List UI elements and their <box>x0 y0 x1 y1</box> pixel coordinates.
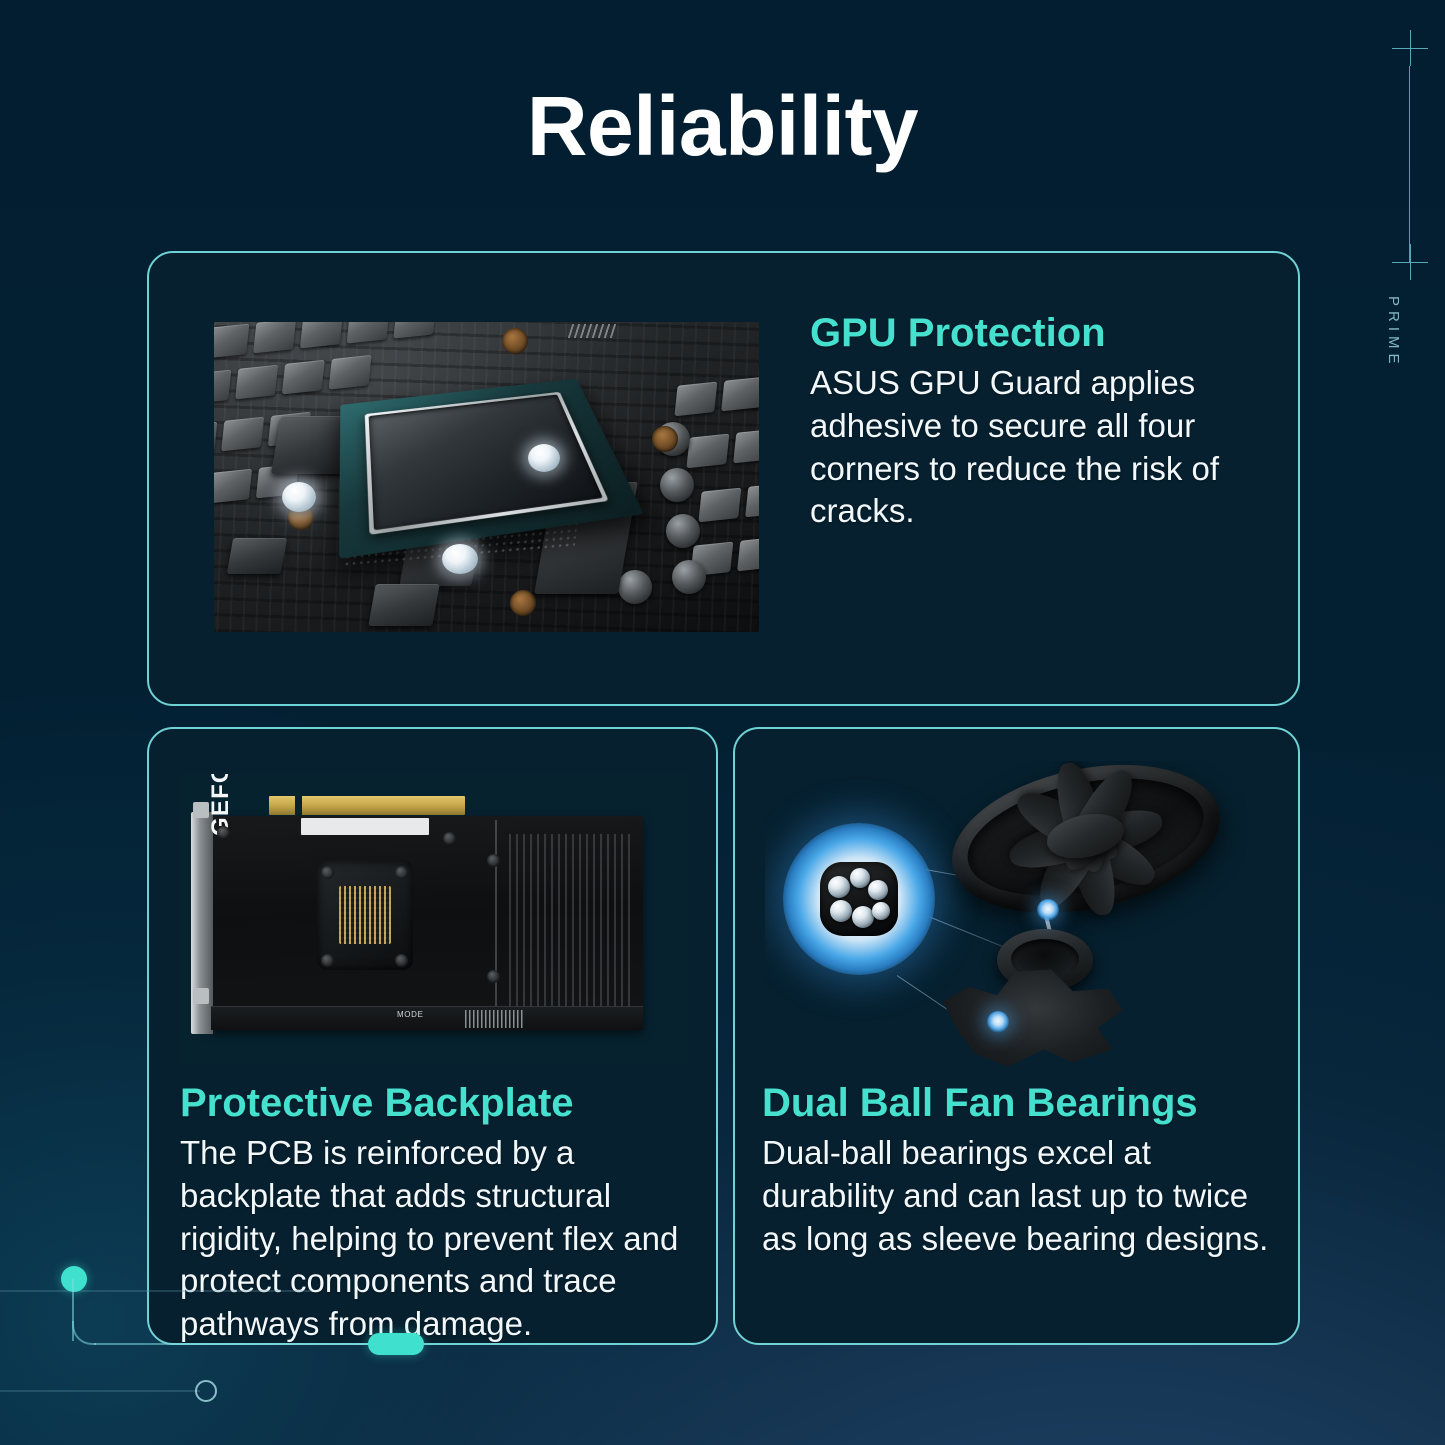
chip <box>214 370 231 405</box>
screw <box>443 832 456 845</box>
bearing-ball <box>872 902 890 920</box>
glowing-screw-icon <box>1037 899 1059 921</box>
chip <box>214 324 249 359</box>
gpu-protection-text: GPU Protection ASUS GPU Guard applies ad… <box>810 311 1230 533</box>
feature-card-dual-ball-fan-bearings: Dual Ball Fan Bearings Dual-ball bearing… <box>733 727 1300 1345</box>
feature-body: ASUS GPU Guard applies adhesive to secur… <box>810 362 1230 534</box>
bracket-tab <box>193 988 209 1004</box>
solder-pad <box>652 426 678 452</box>
feature-body: Dual-ball bearings excel at durability a… <box>762 1132 1282 1261</box>
gpu-die-photo <box>214 322 759 632</box>
chip <box>253 322 296 353</box>
glowing-screw-icon <box>987 1011 1009 1033</box>
mode-switch-label: MODE <box>397 1010 423 1019</box>
magnifier-glow <box>783 823 935 975</box>
capacitor <box>666 514 700 548</box>
chip <box>733 429 759 464</box>
adhesive-blob <box>282 482 316 512</box>
screw <box>321 954 334 967</box>
label-sticker <box>301 818 429 835</box>
chip <box>698 488 741 523</box>
chip <box>674 382 717 417</box>
bearing-race <box>820 862 898 936</box>
backplate-photo: GEFORCE RTX™ MODE <box>179 774 689 1064</box>
screw <box>395 954 408 967</box>
fan-bearing-diagram <box>765 761 1270 1071</box>
capacitor <box>618 570 652 604</box>
chip <box>221 417 264 452</box>
feature-card-gpu-protection: GPU Protection ASUS GPU Guard applies ad… <box>147 251 1300 706</box>
plus-icon <box>1392 244 1428 280</box>
header-pins <box>568 324 617 338</box>
bearing-ball <box>852 906 874 928</box>
chip <box>214 422 217 457</box>
adhesive-blob <box>442 544 478 574</box>
chip <box>300 322 343 348</box>
feature-title: GPU Protection <box>810 311 1230 356</box>
vent-grille <box>509 834 631 1010</box>
circuit-trace <box>0 1290 312 1292</box>
brand-strip: PRIME <box>1375 0 1445 430</box>
circuit-decoration <box>0 1245 520 1445</box>
chip <box>235 365 278 400</box>
panel-divider <box>495 820 497 1024</box>
vrm-block <box>227 538 287 574</box>
brand-label: PRIME <box>1385 296 1402 369</box>
product-feature-page: Reliability PRIME <box>0 0 1445 1445</box>
page-title: Reliability <box>0 82 1445 170</box>
vertical-rule <box>1409 66 1410 262</box>
chip <box>745 483 759 518</box>
chip <box>721 377 759 412</box>
bearing-ball <box>830 900 852 922</box>
feature-title: Dual Ball Fan Bearings <box>762 1081 1282 1126</box>
screw <box>217 826 230 839</box>
circuit-elbow <box>72 1321 96 1345</box>
chip <box>737 537 759 572</box>
bearing-ball <box>868 880 888 900</box>
solder-pad <box>510 590 536 616</box>
bearing-ball <box>828 876 850 898</box>
bottom-rail <box>211 1006 643 1030</box>
plus-icon <box>1392 30 1428 66</box>
circuit-trace <box>94 1343 400 1345</box>
circuit-node-pill <box>368 1333 424 1355</box>
capacitor <box>672 560 706 594</box>
die-pad-array <box>339 886 391 944</box>
bearing-ball <box>850 868 870 888</box>
circuit-node-dot <box>61 1266 87 1292</box>
solder-pad <box>502 328 528 354</box>
circuit-node-ring <box>195 1380 217 1402</box>
screw <box>487 854 500 867</box>
screw <box>321 866 334 879</box>
capacitor <box>660 468 694 502</box>
circuit-trace <box>0 1390 200 1392</box>
feature-title: Protective Backplate <box>180 1081 700 1126</box>
pcie-notch <box>295 796 302 815</box>
adhesive-blob <box>528 444 560 472</box>
screw <box>487 970 500 983</box>
chip <box>329 355 372 390</box>
connector-fingers <box>465 1010 523 1028</box>
chip <box>686 434 729 469</box>
chip <box>214 469 252 504</box>
vrm-block <box>368 584 439 626</box>
bearings-text: Dual Ball Fan Bearings Dual-ball bearing… <box>762 1081 1282 1260</box>
screw <box>395 866 408 879</box>
chip <box>282 360 325 395</box>
